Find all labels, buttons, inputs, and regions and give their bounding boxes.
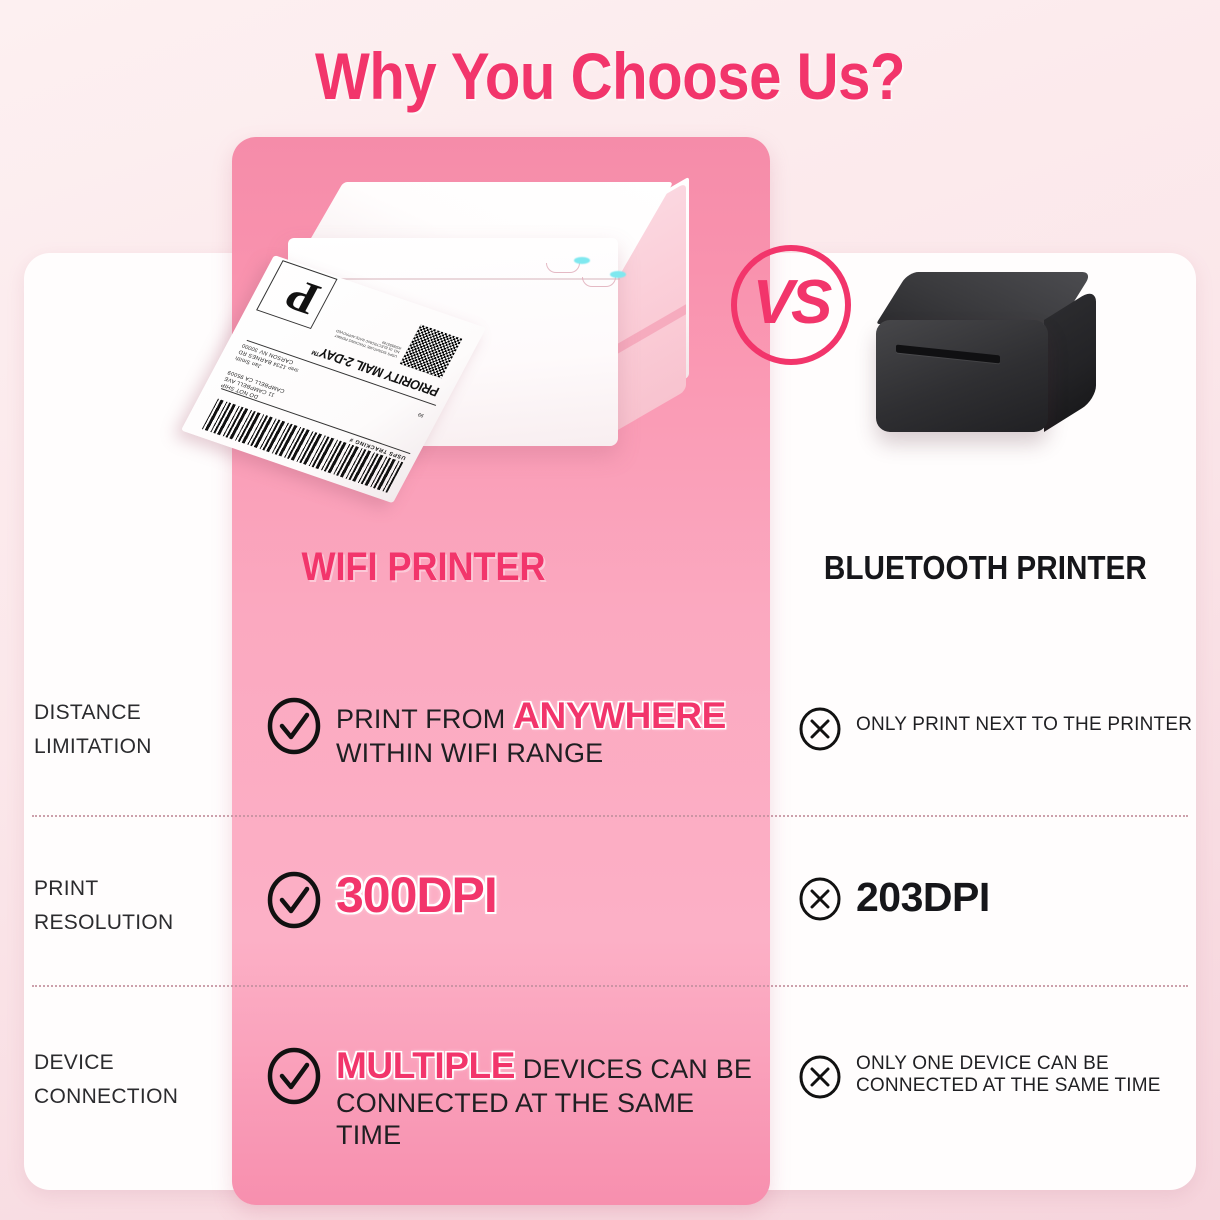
- check-icon: [266, 1046, 322, 1106]
- printer-led-indicator-two: [610, 271, 626, 278]
- bt-printer-front: [876, 320, 1048, 432]
- wifi-distance-text: PRINT FROM ANYWHERE WITHIN WIFI RANGE: [336, 694, 726, 770]
- wifi-cell-connection: MULTIPLE DEVICES CAN BE CONNECTED AT THE…: [266, 1044, 756, 1151]
- wifi-connection-line1-post: DEVICES CAN BE: [515, 1054, 752, 1084]
- row-label-line1: PRINT: [34, 872, 224, 906]
- column-heading-bluetooth: BLUETOOTH PRINTER: [824, 549, 1147, 587]
- bluetooth-connection-text: ONLY ONE DEVICE CAN BE CONNECTED AT THE …: [856, 1053, 1161, 1098]
- row-label-resolution: PRINT RESOLUTION: [34, 872, 224, 940]
- bluetooth-cell-connection: ONLY ONE DEVICE CAN BE CONNECTED AT THE …: [798, 1052, 1198, 1100]
- row-label-line2: CONNECTION: [34, 1080, 224, 1114]
- vs-badge-label: VS: [753, 267, 830, 338]
- printer-button-two[interactable]: [582, 277, 616, 287]
- wifi-resolution-value: 300DPI: [336, 866, 497, 925]
- feature-row-connection: DEVICE CONNECTION MULTIPLE DEVICES CAN B…: [0, 1036, 1220, 1141]
- row-divider-2: [32, 985, 1188, 987]
- wifi-connection-text: MULTIPLE DEVICES CAN BE CONNECTED AT THE…: [336, 1044, 756, 1151]
- wifi-connection-line2: CONNECTED AT THE SAME TIME: [336, 1088, 756, 1152]
- vs-badge: VS: [731, 245, 851, 365]
- wifi-connection-highlight: MULTIPLE: [336, 1045, 515, 1086]
- row-label-line2: RESOLUTION: [34, 906, 224, 940]
- printer-button-one[interactable]: [546, 263, 580, 273]
- label-weight: 99: [417, 411, 425, 418]
- wifi-cell-distance: PRINT FROM ANYWHERE WITHIN WIFI RANGE: [266, 694, 756, 770]
- check-icon: [266, 696, 322, 756]
- label-postmark-letter: P: [279, 273, 326, 320]
- bluetooth-resolution-value: 203DPI: [856, 873, 990, 921]
- row-divider-1: [32, 815, 1188, 817]
- row-label-line1: DEVICE: [34, 1046, 224, 1080]
- row-label-line2: LIMITATION: [34, 730, 224, 764]
- page-title: Why You Choose Us?: [73, 38, 1147, 114]
- wifi-distance-line1-pre: PRINT FROM: [336, 704, 513, 734]
- check-icon: [266, 870, 322, 930]
- bluetooth-connection-line1: ONLY ONE DEVICE CAN BE: [856, 1053, 1161, 1075]
- column-heading-wifi: WIFI PRINTER: [302, 545, 546, 590]
- bluetooth-distance-text: ONLY PRINT NEXT TO THE PRINTER: [856, 714, 1192, 736]
- label-ship-marker: SHIP: [287, 365, 299, 373]
- wifi-cell-resolution: 300DPI: [266, 868, 756, 930]
- cross-icon: [798, 706, 842, 752]
- cross-icon: [798, 876, 842, 922]
- bluetooth-printer-image: [870, 272, 1090, 462]
- bluetooth-cell-distance: ONLY PRINT NEXT TO THE PRINTER: [798, 704, 1198, 752]
- wifi-printer-image: USPS TRACKING # DO NOT SHIP 11 CAMPBELL …: [258, 160, 728, 520]
- cross-icon: [798, 1054, 842, 1100]
- label-qr-code: [400, 325, 463, 379]
- row-label-distance: DISTANCE LIMITATION: [34, 696, 224, 764]
- bluetooth-connection-line2: CONNECTED AT THE SAME TIME: [856, 1075, 1161, 1097]
- row-label-line1: DISTANCE: [34, 696, 224, 730]
- wifi-distance-line2: WITHIN WIFI RANGE: [336, 738, 726, 770]
- feature-row-distance: DISTANCE LIMITATION PRINT FROM ANYWHERE …: [0, 686, 1220, 786]
- wifi-distance-highlight: ANYWHERE: [513, 695, 726, 736]
- row-label-connection: DEVICE CONNECTION: [34, 1046, 224, 1114]
- bluetooth-cell-resolution: 203DPI: [798, 874, 1198, 922]
- feature-row-resolution: PRINT RESOLUTION 300DPI 203DPI: [0, 862, 1220, 962]
- printer-led-indicator-one: [574, 257, 590, 264]
